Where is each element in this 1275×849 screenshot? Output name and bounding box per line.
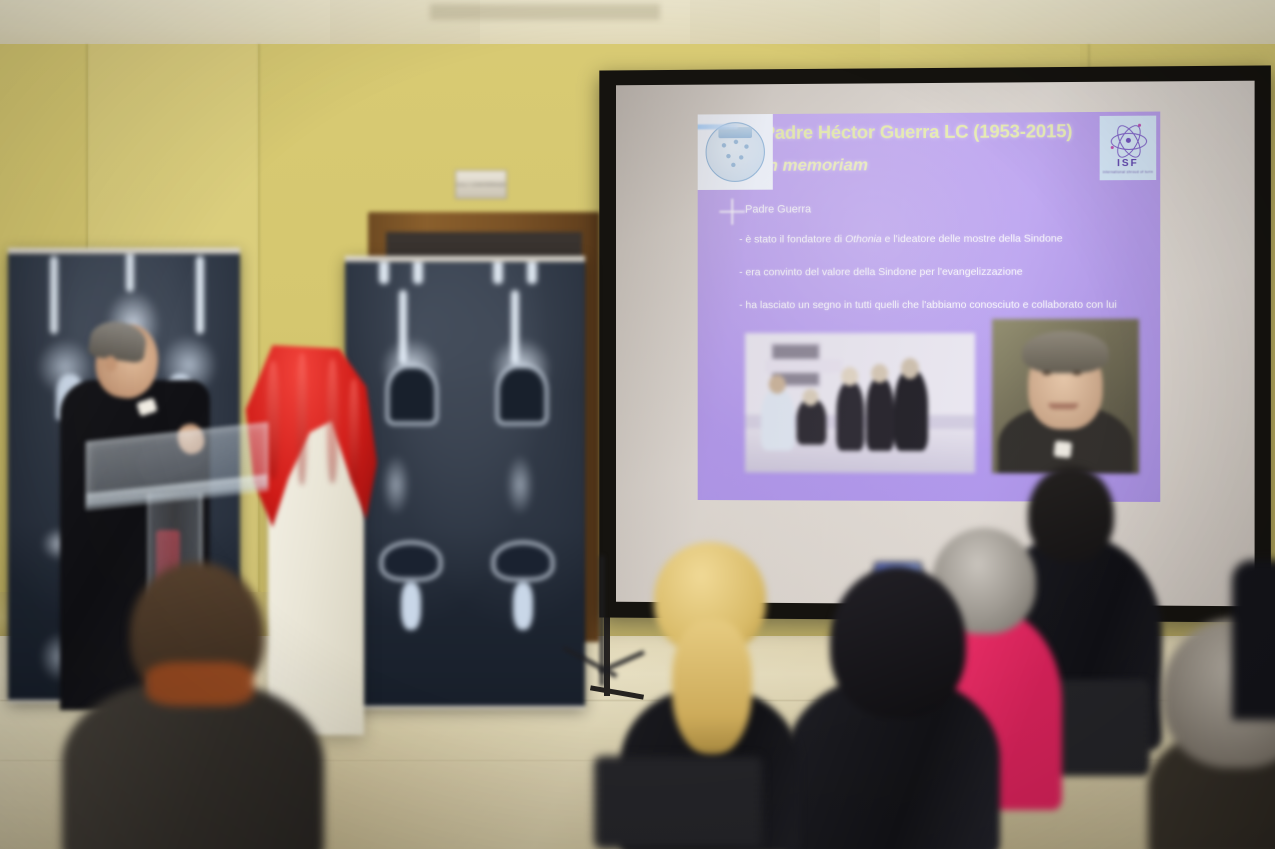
shroud-banner-right <box>345 256 585 708</box>
group-photo <box>745 333 975 473</box>
slide-title: Padre Héctor Guerra LC (1953-2015) <box>763 120 1153 144</box>
slide-subtitle: In memoriam <box>763 155 868 175</box>
wall-sign: AULA CONFERENZE <box>455 170 507 199</box>
slide-bullet: - è stato il fondatore di Othonia e l'id… <box>739 232 1157 246</box>
chair <box>594 756 762 849</box>
isf-logo-subtext: international shroud of turin <box>1103 170 1153 174</box>
isf-logo-text: ISF <box>1117 159 1139 169</box>
audience-member-dark-hair <box>786 566 1000 849</box>
audience-member-partial <box>1232 560 1275 720</box>
audience-member-foreground-left <box>62 562 324 849</box>
live-bar <box>698 124 738 129</box>
ceiling-light-slot <box>430 4 660 20</box>
wall-sign-label: AULA CONFERENZE <box>456 182 506 187</box>
slide-bullet: - era convinto del valore della Sindone … <box>739 266 1157 280</box>
conference-hall-photo: AULA CONFERENZE Padre Héctor Guerra LC (… <box>0 0 1275 849</box>
cross-star-icon <box>719 199 745 225</box>
projected-slide: Padre Héctor Guerra LC (1953-2015) In me… <box>698 112 1161 502</box>
othonia-emblem-icon: LIVE <box>698 112 773 190</box>
isf-logo-icon: ISF international shroud of turin <box>1100 116 1157 181</box>
portrait-photo <box>992 319 1139 474</box>
slide-lead-text: Padre Guerra <box>745 203 811 215</box>
slide-bullet: - ha lasciato un segno in tutti quelli c… <box>739 299 1157 313</box>
